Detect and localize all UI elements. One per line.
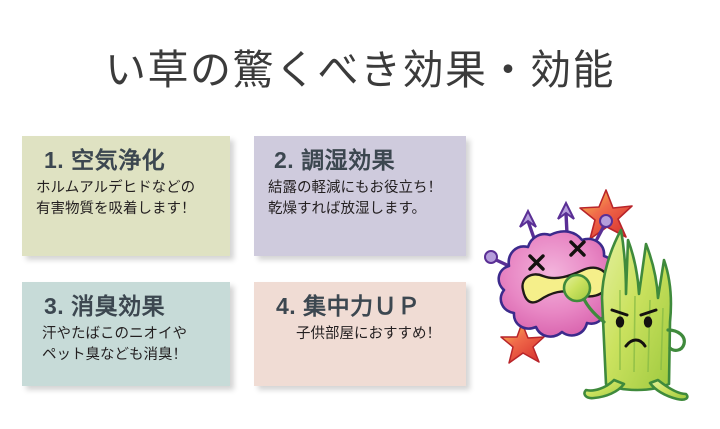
benefit-card-air-purification: 1. 空気浄化 ホルムアルデヒドなどの 有害物質を吸着します！	[22, 136, 230, 256]
benefit-card-body: 汗やたばこのニオイや ペット臭なども消臭！	[22, 324, 230, 365]
benefit-card-concentration-up: 4. 集中力ＵＰ 子供部屋におすすめ！	[254, 282, 466, 386]
benefit-card-body-line-2: 乾燥すれば放湿します。	[268, 199, 466, 220]
benefit-card-heading: 1. 空気浄化	[22, 148, 230, 173]
benefit-card-heading: 3. 消臭効果	[22, 294, 230, 319]
benefit-card-body: 子供部屋におすすめ！	[254, 324, 466, 345]
benefit-card-body-line-1: 子供部屋におすすめ！	[296, 324, 466, 345]
benefit-card-body-line-2: 有害物質を吸着します！	[36, 199, 230, 220]
infographic-poster: い草の驚くべき効果・効能 1. 空気浄化 ホルムアルデヒドなどの 有害物質を吸着…	[0, 0, 720, 429]
benefit-card-humidity-control: 2. 調湿効果 結露の軽減にもお役立ち！ 乾燥すれば放湿します。	[254, 136, 466, 256]
benefit-card-body-line-2: ペット臭なども消臭！	[42, 345, 230, 366]
benefit-card-body-line-1: 汗やたばこのニオイや	[42, 324, 230, 345]
benefit-card-body: 結露の軽減にもお役立ち！ 乾燥すれば放湿します。	[254, 178, 466, 219]
benefit-card-body-line-1: 結露の軽減にもお役立ち！	[268, 178, 466, 199]
mascot-illustration	[478, 180, 714, 402]
page-title: い草の驚くべき効果・効能	[0, 36, 720, 96]
benefit-card-body: ホルムアルデヒドなどの 有害物質を吸着します！	[22, 178, 230, 219]
benefit-card-heading: 4. 集中力ＵＰ	[254, 294, 466, 319]
benefit-card-deodorizing: 3. 消臭効果 汗やたばこのニオイや ペット臭なども消臭！	[22, 282, 230, 386]
benefit-card-body-line-1: ホルムアルデヒドなどの	[36, 178, 230, 199]
benefit-card-heading: 2. 調湿効果	[254, 148, 466, 173]
